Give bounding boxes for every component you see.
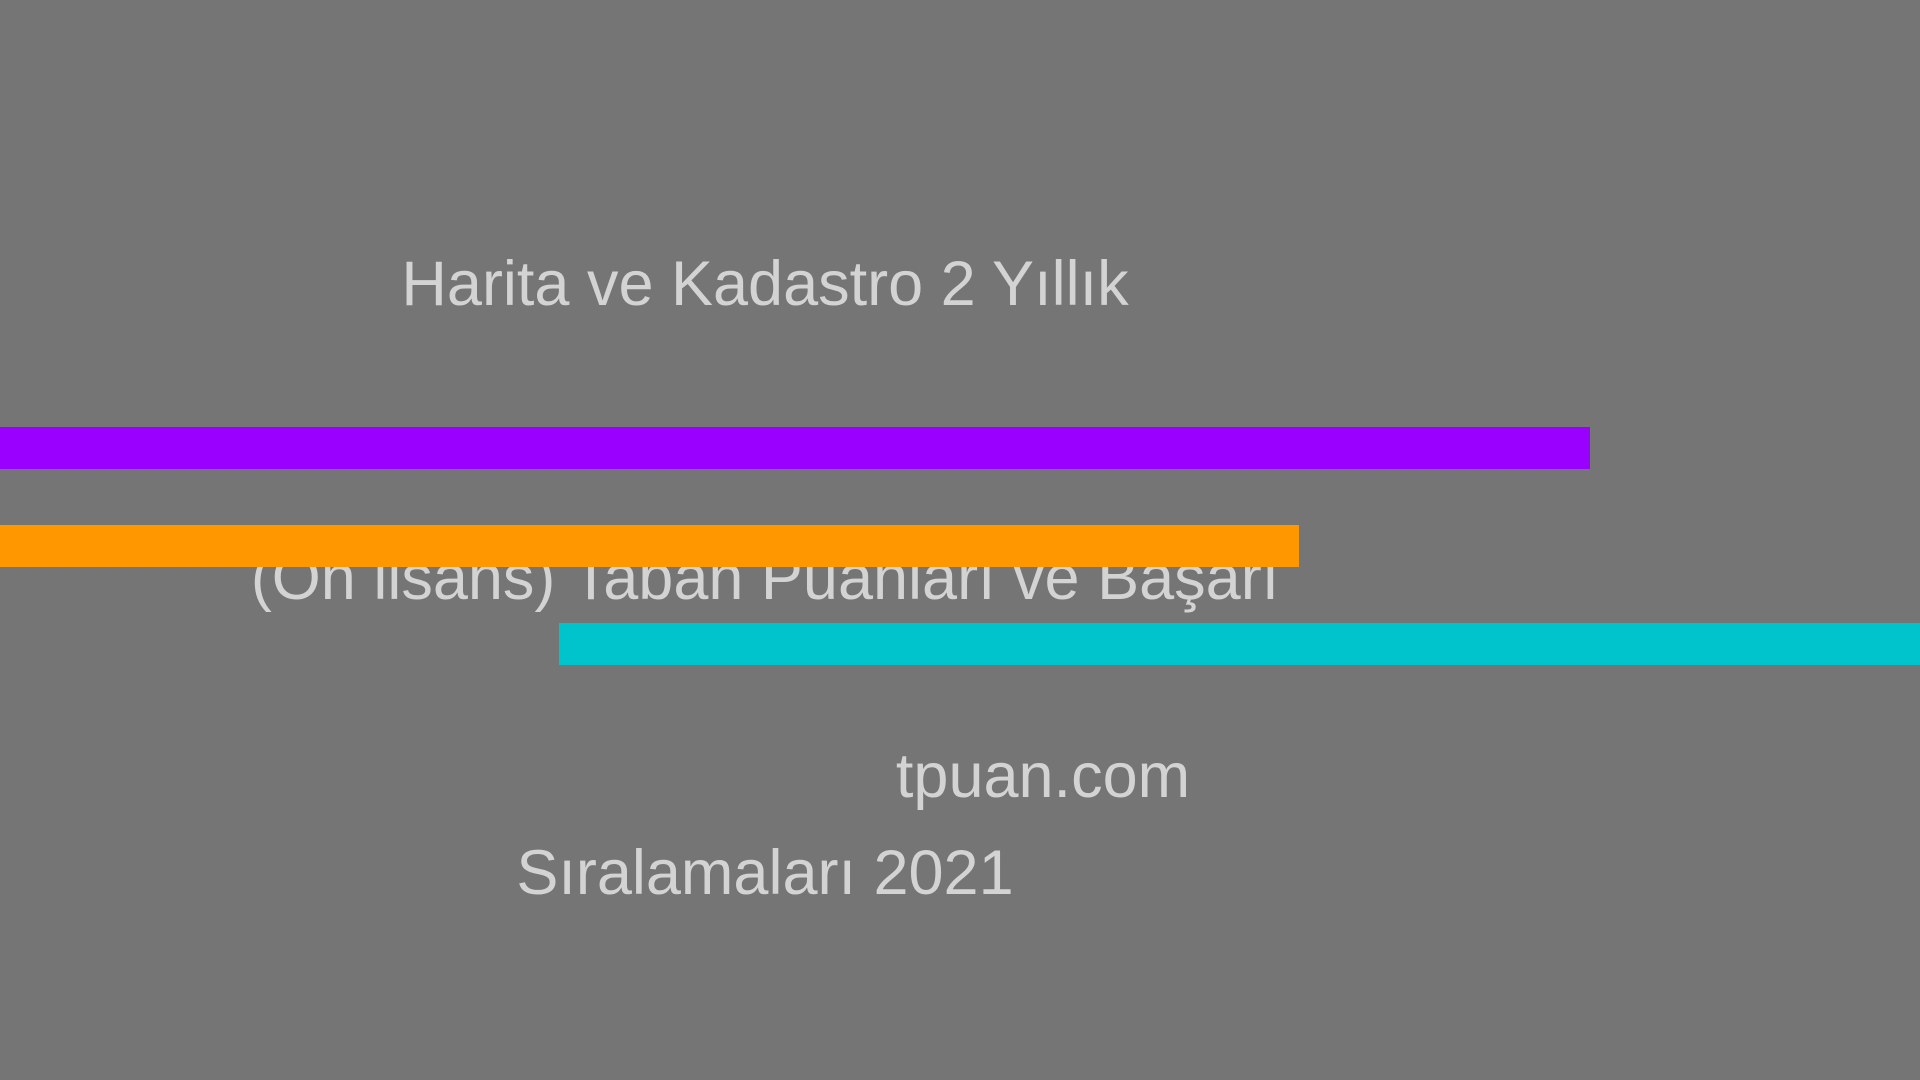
page-title-line-3: Sıralamaları 2021 [0, 824, 1530, 922]
chart-canvas: Harita ve Kadastro 2 Yıllık (Ön lisans) … [0, 0, 1920, 1080]
watermark-label: tpuan.com [0, 737, 1920, 816]
bar-series-3 [559, 623, 1920, 665]
page-title-line-1: Harita ve Kadastro 2 Yıllık [0, 235, 1530, 333]
bar-series-1 [0, 427, 1590, 469]
bar-series-2 [0, 525, 1299, 567]
